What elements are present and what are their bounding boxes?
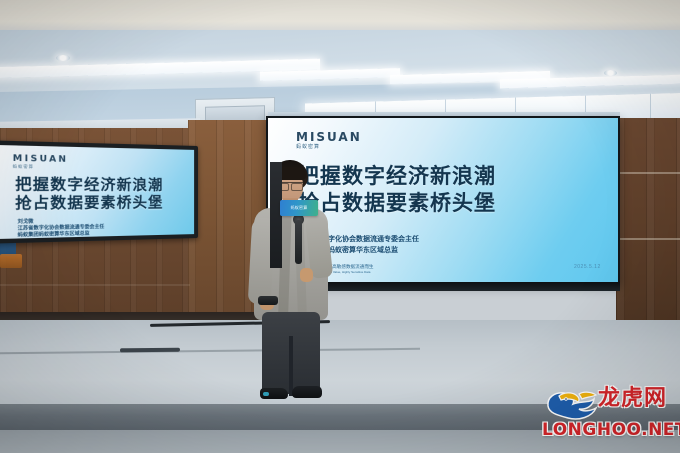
left-slide-speaker-role-2: 蚂蚁集团蚂蚁密算华东区域总监 [18,230,90,239]
main-slide-logo-wordmark: MISUAN [296,131,362,143]
watermark: 龙虎网 LONGHOO.NET [538,386,674,446]
wall-seam [616,238,680,240]
speaker-leg-separation [289,336,293,396]
main-slide-logo: MISUAN 蚂蚁密算 [296,131,362,150]
side-equipment-prop [0,254,22,268]
wood-wall-right [616,118,680,338]
conference-photo-scene: MISUAN 蚂蚁密算 把握数字经济新浪潮 抢占数据要素桥头堡 刘戈微 江苏省数… [0,0,680,453]
ceiling-downlight-icon [604,70,617,76]
left-slide-logo-chinese: 蚂蚁密算 [13,165,34,169]
dragon-icon [544,386,600,424]
speaker-person: 蚂蚁密算 [236,160,346,408]
wall-seam [616,172,680,174]
microphone-flag-label: 蚂蚁密算 [291,205,308,211]
watermark-chinese-text: 龙虎网 [598,388,667,410]
left-slide-title-line2: 抢占数据要素桥头堡 [15,195,163,215]
wall-seam [0,284,190,286]
left-slide-logo-wordmark: MISUAN [13,154,68,164]
left-slide-logo: MISUAN 蚂蚁密算 [13,154,68,170]
left-display-screen[interactable]: MISUAN 蚂蚁密算 把握数字经济新浪潮 抢占数据要素桥头堡 刘戈微 江苏省数… [0,145,194,239]
ceiling-downlight-icon [56,55,70,61]
speaker-shoe-right [292,386,322,398]
main-slide-date: 2025.5.12 [574,264,601,270]
watermark-latin-text: LONGHOO.NET [542,422,680,439]
microphone-icon [295,220,302,264]
presentation-clicker-icon [258,296,278,305]
speaker-right-hand [300,268,313,282]
left-slide-title-line1: 把握数字经济新浪潮 [15,176,163,196]
left-display-frame: MISUAN 蚂蚁密算 把握数字经济新浪潮 抢占数据要素桥头堡 刘戈微 江苏省数… [0,140,198,244]
stage-floor-gap [120,348,180,353]
main-slide-logo-chinese: 蚂蚁密算 [296,145,320,150]
speaker-shoe-left [260,388,288,399]
microphone-flag: 蚂蚁密算 [280,200,318,216]
